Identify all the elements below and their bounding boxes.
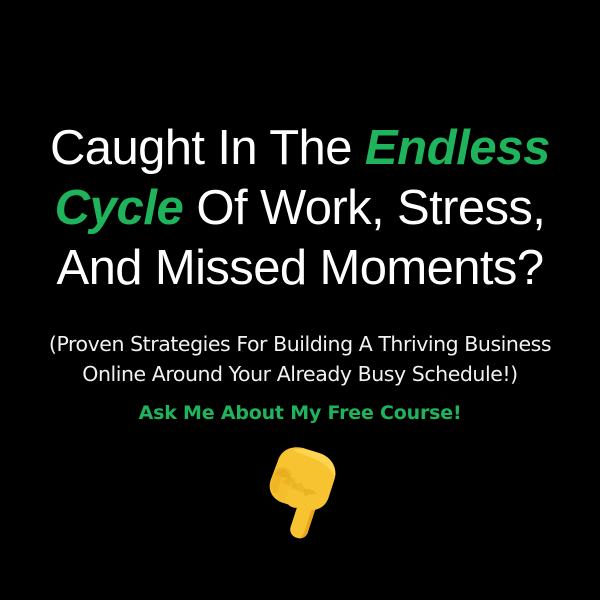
headline-text-plain-1: Caught In The (50, 121, 365, 175)
headline-text-plain-2: Of Work, Stress, (183, 181, 545, 235)
subheadline-line-1: (Proven Strategies For Building A Thrivi… (0, 329, 600, 359)
subheadline: (Proven Strategies For Building A Thrivi… (0, 329, 600, 389)
subheadline-line-2: Online Around Your Already Busy Schedule… (0, 359, 600, 389)
headline-line-2: Cycle Of Work, Stress, (0, 178, 600, 238)
cta-text[interactable]: Ask Me About My Free Course! (0, 400, 600, 426)
pointing-down-hand-icon (248, 444, 352, 540)
page-title: Caught In The Endless Cycle Of Work, Str… (0, 118, 600, 298)
headline-line-1: Caught In The Endless (0, 118, 600, 178)
promo-poster: Caught In The Endless Cycle Of Work, Str… (0, 0, 600, 600)
headline-line-3: And Missed Moments? (0, 238, 600, 298)
headline-accent-endless: Endless (365, 121, 550, 175)
headline-accent-cycle: Cycle (55, 181, 184, 235)
